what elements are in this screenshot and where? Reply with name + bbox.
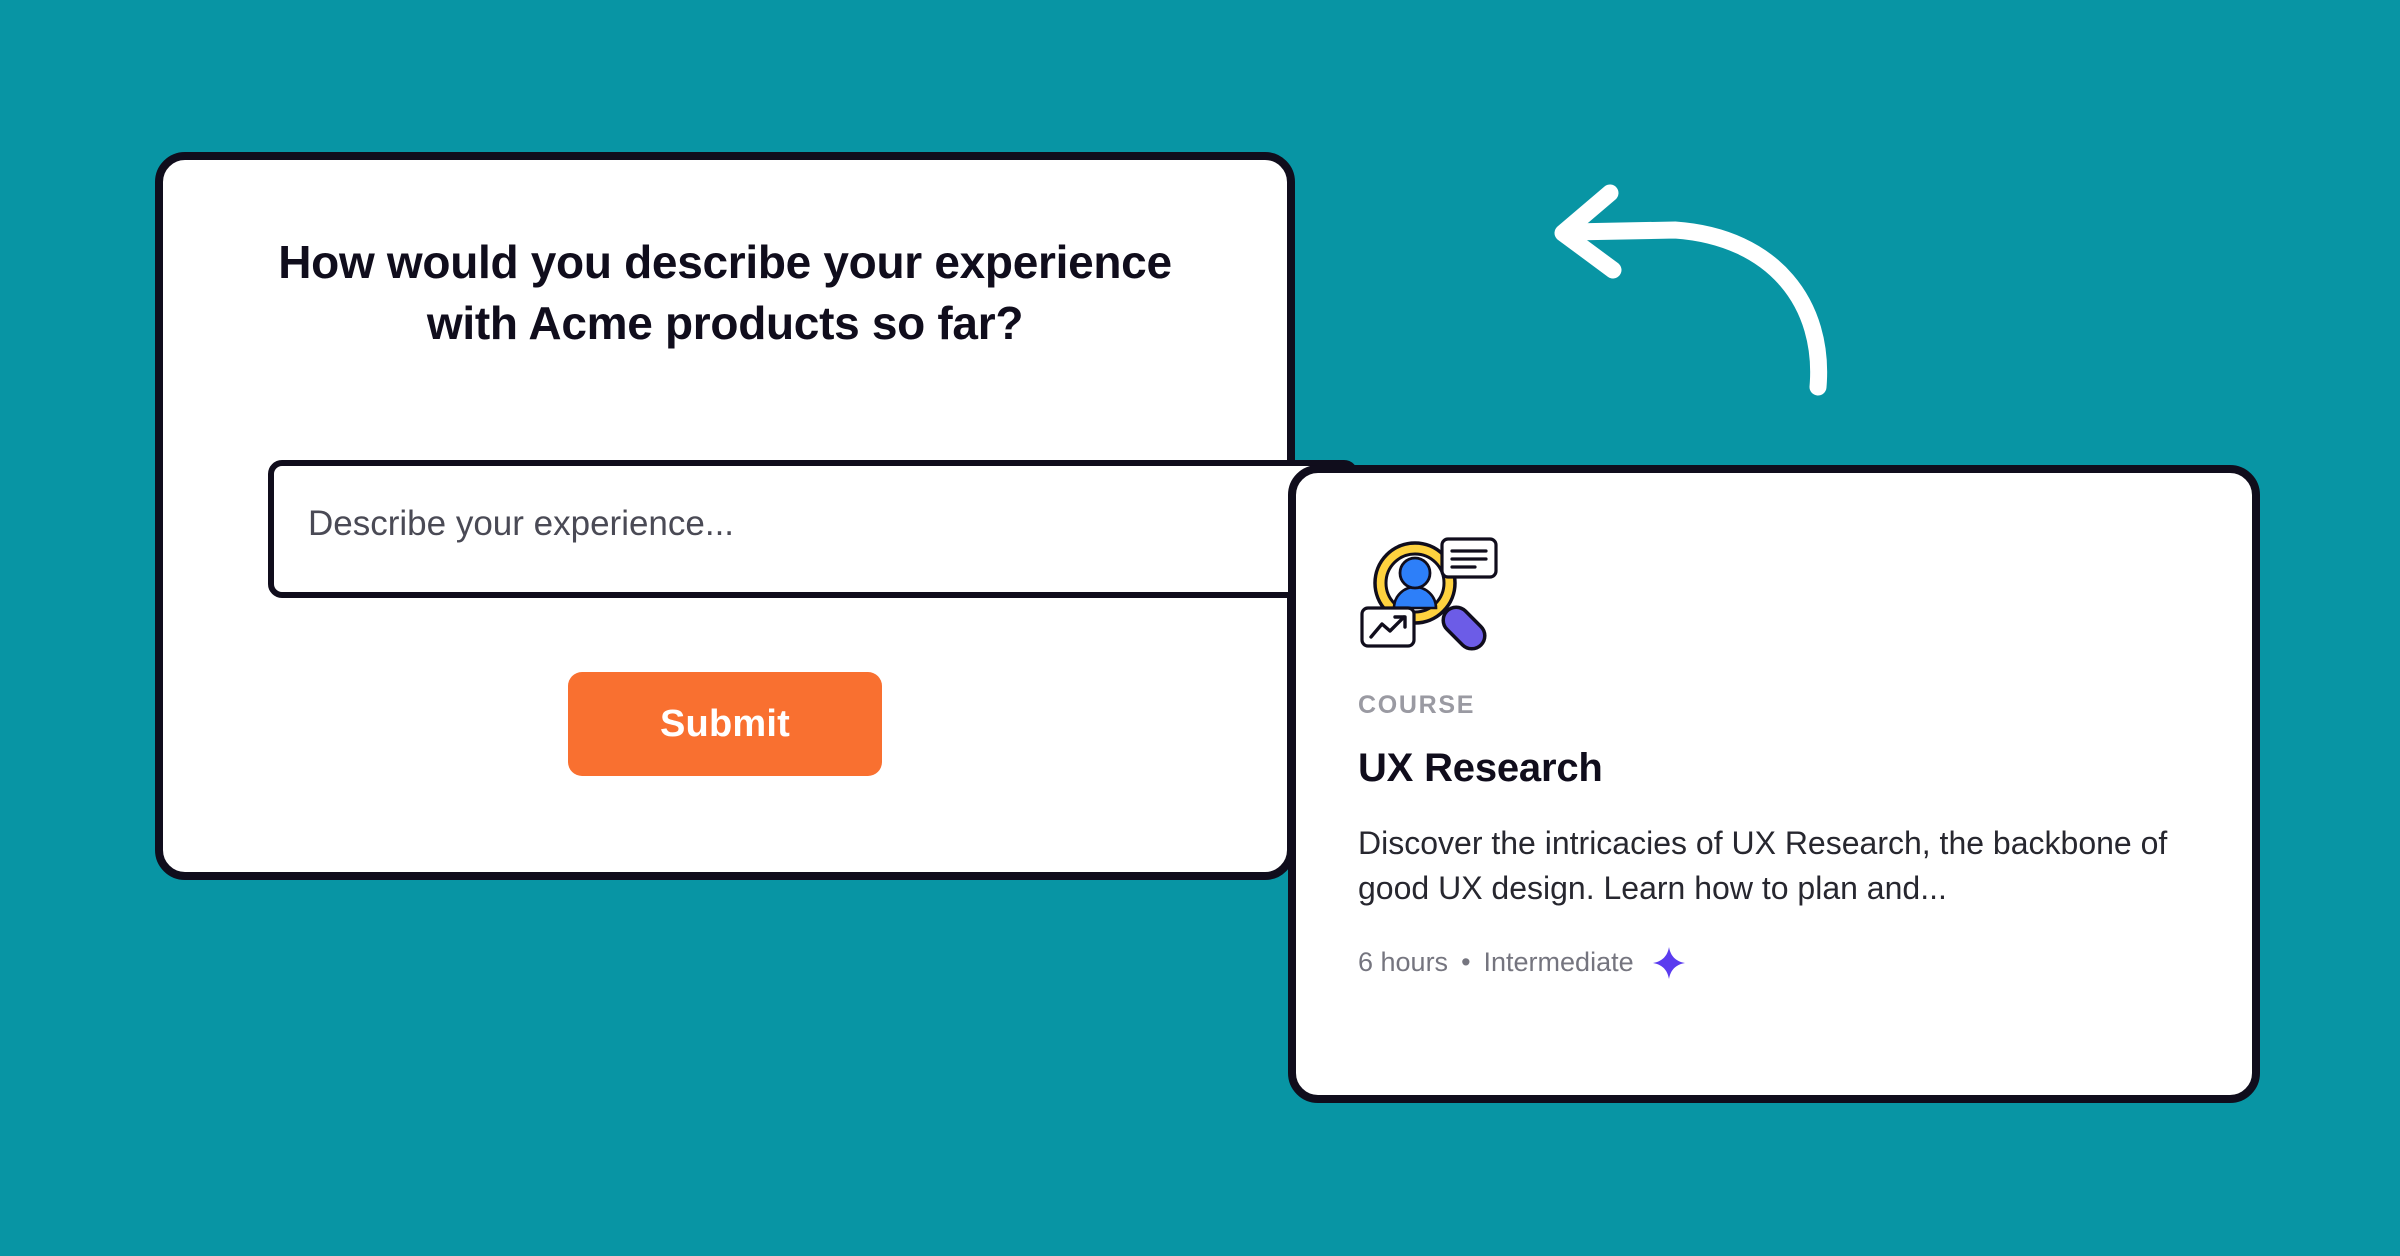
curved-arrow-left-icon (1525, 175, 1845, 400)
course-level: Intermediate (1484, 947, 1634, 978)
course-card[interactable]: COURSE UX Research Discover the intricac… (1288, 465, 2260, 1103)
course-description: Discover the intricacies of UX Research,… (1358, 821, 2190, 912)
experience-textarea[interactable]: Describe your experience... (268, 460, 1358, 598)
course-meta-row: 6 hours • Intermediate (1358, 946, 2190, 980)
character-counter: 0/2 (268, 614, 1358, 645)
meta-separator: • (1461, 947, 1470, 978)
course-title: UX Research (1358, 746, 2190, 791)
canvas: How would you describe your experience w… (0, 0, 2400, 1256)
experience-field-group: Describe your experience... 0/2 (268, 460, 1358, 645)
submit-button[interactable]: Submit (568, 672, 882, 776)
course-kicker-label: COURSE (1358, 691, 2190, 720)
sparkle-icon (1652, 946, 1686, 980)
ux-research-magnifier-icon (1358, 525, 1508, 653)
course-duration: 6 hours (1358, 947, 1448, 978)
form-question-title: How would you describe your experience w… (259, 232, 1191, 353)
submit-row: Submit (163, 672, 1287, 776)
feedback-form-card: How would you describe your experience w… (155, 152, 1295, 880)
